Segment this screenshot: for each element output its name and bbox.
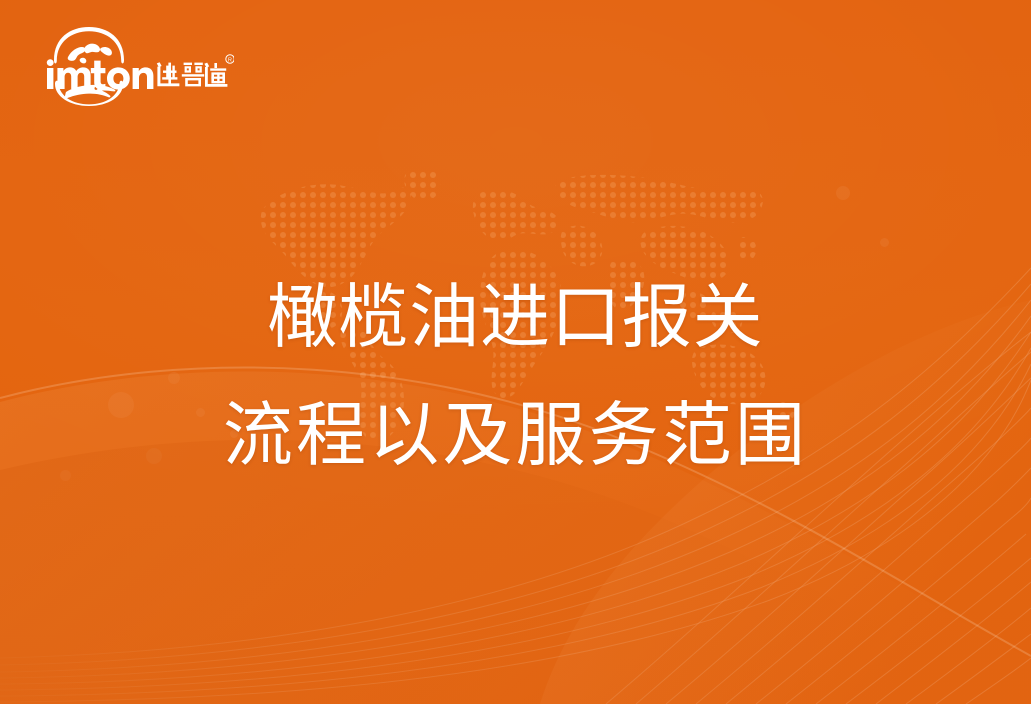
logo-wordmark [47,59,154,89]
promo-banner: R 橄榄油进口报关 流程以及服务范围 [0,0,1031,704]
brand-logo[interactable]: R [44,26,234,106]
svg-text:R: R [228,57,232,63]
globe-logo-icon [54,27,124,106]
logo-chinese-name [157,62,228,87]
trademark-icon: R [226,55,234,64]
